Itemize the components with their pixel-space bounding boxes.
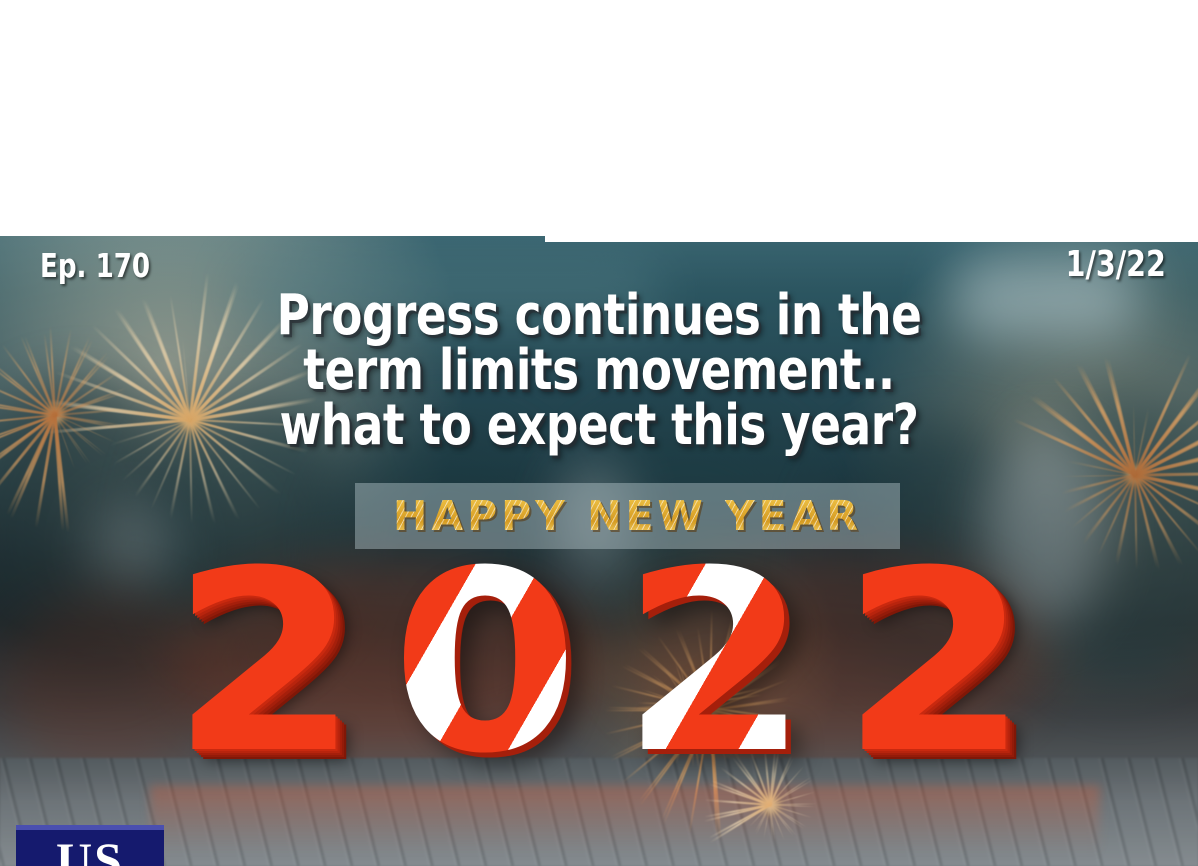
masthead — [0, 0, 1198, 236]
headline-line-3: what to expect this year? — [60, 398, 1138, 453]
headline: Progress continues in the term limits mo… — [0, 288, 1198, 453]
us-term-limits-badge[interactable]: US — [16, 825, 164, 866]
headline-line-1: Progress continues in the — [60, 288, 1138, 343]
happy-new-year-banner: HAPPY NEW YEAR — [355, 483, 900, 549]
issue-date: 1/3/22 — [1066, 245, 1166, 285]
year-digit: 2 — [621, 538, 809, 788]
masthead-step — [545, 228, 1198, 242]
headline-line-2: term limits movement.. — [60, 343, 1138, 398]
year-digit: 0 — [391, 538, 579, 788]
year-2022-graphic: 2 0 2 2 — [0, 538, 1198, 838]
year-digit: 2 — [841, 538, 1029, 788]
newsletter-header-graphic: 2 0 2 2 Ep. 170 1/3/22 Progress continue… — [0, 0, 1198, 866]
happy-new-year-text: HAPPY NEW YEAR — [355, 483, 900, 549]
episode-number: Ep. 170 — [40, 248, 150, 284]
us-term-limits-label: US — [16, 834, 164, 866]
year-digit: 2 — [171, 538, 359, 788]
